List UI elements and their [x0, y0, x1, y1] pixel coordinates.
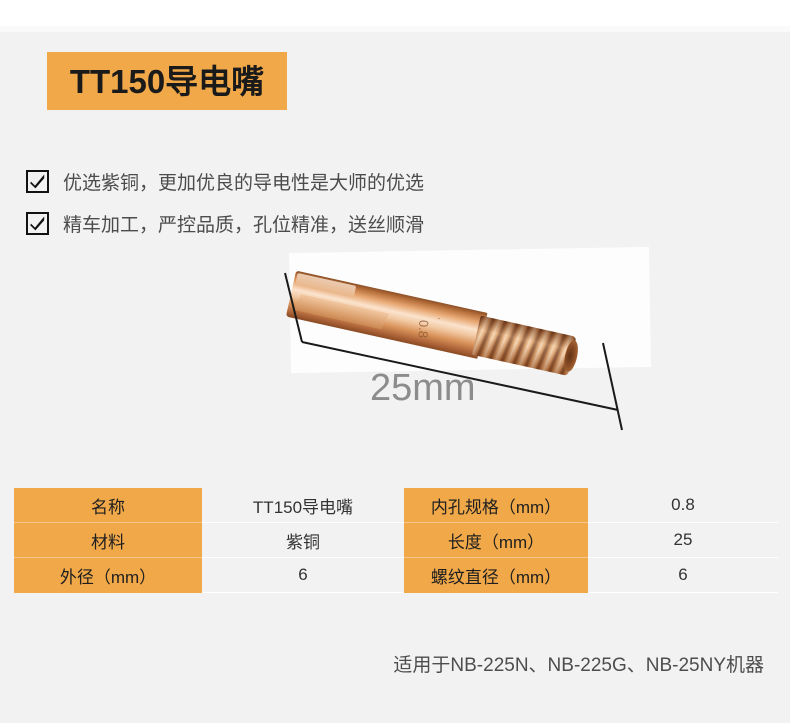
feature-list: 优选紫铜，更加优良的导电性是大师的优选 精车加工，严控品质，孔位精准，送丝顺滑	[26, 160, 546, 244]
checkbox-checked-icon	[26, 212, 49, 235]
product-detail-page: TT150导电嘴 优选紫铜，更加优良的导电性是大师的优选 精车加工，严控品质，孔…	[0, 0, 790, 723]
dimension-label: 25mm	[370, 367, 476, 410]
spec-value: TT150导电嘴	[202, 488, 404, 523]
spec-key: 外径（mm）	[14, 558, 202, 593]
spec-value: 25	[588, 523, 778, 558]
table-row: 名称 TT150导电嘴 内孔规格（mm） 0.8	[14, 488, 778, 523]
spec-value: 6	[588, 558, 778, 593]
feature-text: 精车加工，严控品质，孔位精准，送丝顺滑	[63, 210, 424, 237]
page-title: TT150导电嘴	[70, 65, 264, 98]
table-row: 材料 紫铜 长度（mm） 25	[14, 523, 778, 558]
compatibility-note: 适用于NB-225N、NB-225G、NB-25NY机器	[0, 650, 764, 677]
spec-value: 6	[202, 558, 404, 593]
spec-value: 0.8	[588, 488, 778, 523]
spec-key: 螺纹直径（mm）	[404, 558, 588, 593]
top-gradient-strip	[0, 26, 790, 32]
feature-item: 精车加工，严控品质，孔位精准，送丝顺滑	[26, 202, 546, 244]
spec-value: 紫铜	[202, 523, 404, 558]
spec-key: 名称	[14, 488, 202, 523]
checkbox-checked-icon	[26, 170, 49, 193]
spec-key: 材料	[14, 523, 202, 558]
spec-key: 长度（mm）	[404, 523, 588, 558]
product-photo: 0.8 · 25mm	[270, 245, 670, 435]
table-row: 外径（mm） 6 螺纹直径（mm） 6	[14, 558, 778, 593]
feature-text: 优选紫铜，更加优良的导电性是大师的优选	[63, 168, 424, 195]
product-title-banner: TT150导电嘴	[47, 52, 287, 110]
specification-table: 名称 TT150导电嘴 内孔规格（mm） 0.8 材料 紫铜 长度（mm） 25…	[14, 488, 778, 593]
top-white-strip	[0, 0, 790, 26]
spec-key: 内孔规格（mm）	[404, 488, 588, 523]
feature-item: 优选紫铜，更加优良的导电性是大师的优选	[26, 160, 546, 202]
